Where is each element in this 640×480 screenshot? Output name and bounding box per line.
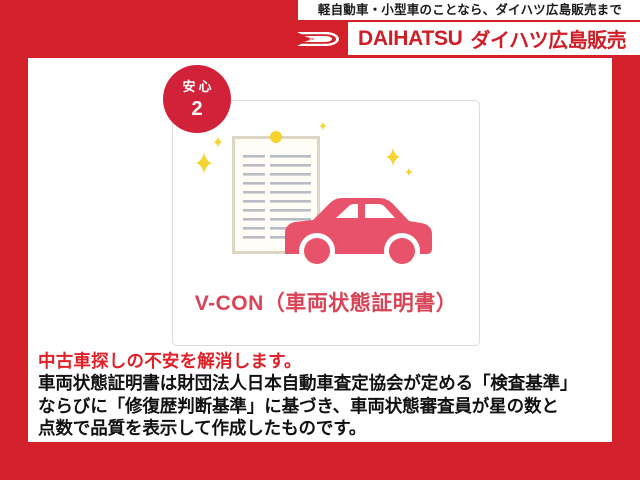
daihatsu-d-emblem-icon xyxy=(288,22,348,55)
sparkle-icon xyxy=(385,146,401,168)
sparkle-icon xyxy=(213,135,223,149)
sparkle-icon xyxy=(405,167,413,178)
brand-name: DAIHATSU xyxy=(348,22,469,55)
brand-logo-row: DAIHATSU ダイハツ広島販売 xyxy=(288,22,640,55)
dealer-name: ダイハツ広島販売 xyxy=(469,22,631,55)
badge-label: 安心 xyxy=(179,80,214,93)
description-line: ならびに「修復歴判断基準」に基づき、車両状態審査員が星の数と xyxy=(38,395,604,418)
vcon-caption: V-CON（車両状態証明書） xyxy=(173,287,479,317)
badge-number: 2 xyxy=(191,99,202,119)
sparkle-icon xyxy=(319,121,327,132)
description-line: 車両状態証明書は財団法人日本自動車査定協会が定める「検査基準」 xyxy=(38,372,604,395)
description-heading: 中古車探しの不安を解消します。 xyxy=(38,350,604,372)
brand-tagline: 軽自動車・小型車のことなら、ダイハツ広島販売まで xyxy=(298,0,640,20)
brand-header: 軽自動車・小型車のことなら、ダイハツ広島販売まで DAIHATSU ダイハツ広島… xyxy=(288,0,640,55)
sparkle-icon xyxy=(195,150,213,176)
anshin-badge: 安心 2 xyxy=(163,65,231,133)
content-panel: V-CON（車両状態証明書） 中古車探しの不安を解消します。 車両状態証明書は財… xyxy=(28,58,612,442)
vcon-illustration xyxy=(173,115,481,265)
description-line: 点数で品質を表示して作成したものです。 xyxy=(38,417,604,440)
vcon-card: V-CON（車両状態証明書） xyxy=(172,100,480,346)
description-block: 中古車探しの不安を解消します。 車両状態証明書は財団法人日本自動車査定協会が定め… xyxy=(38,350,604,440)
